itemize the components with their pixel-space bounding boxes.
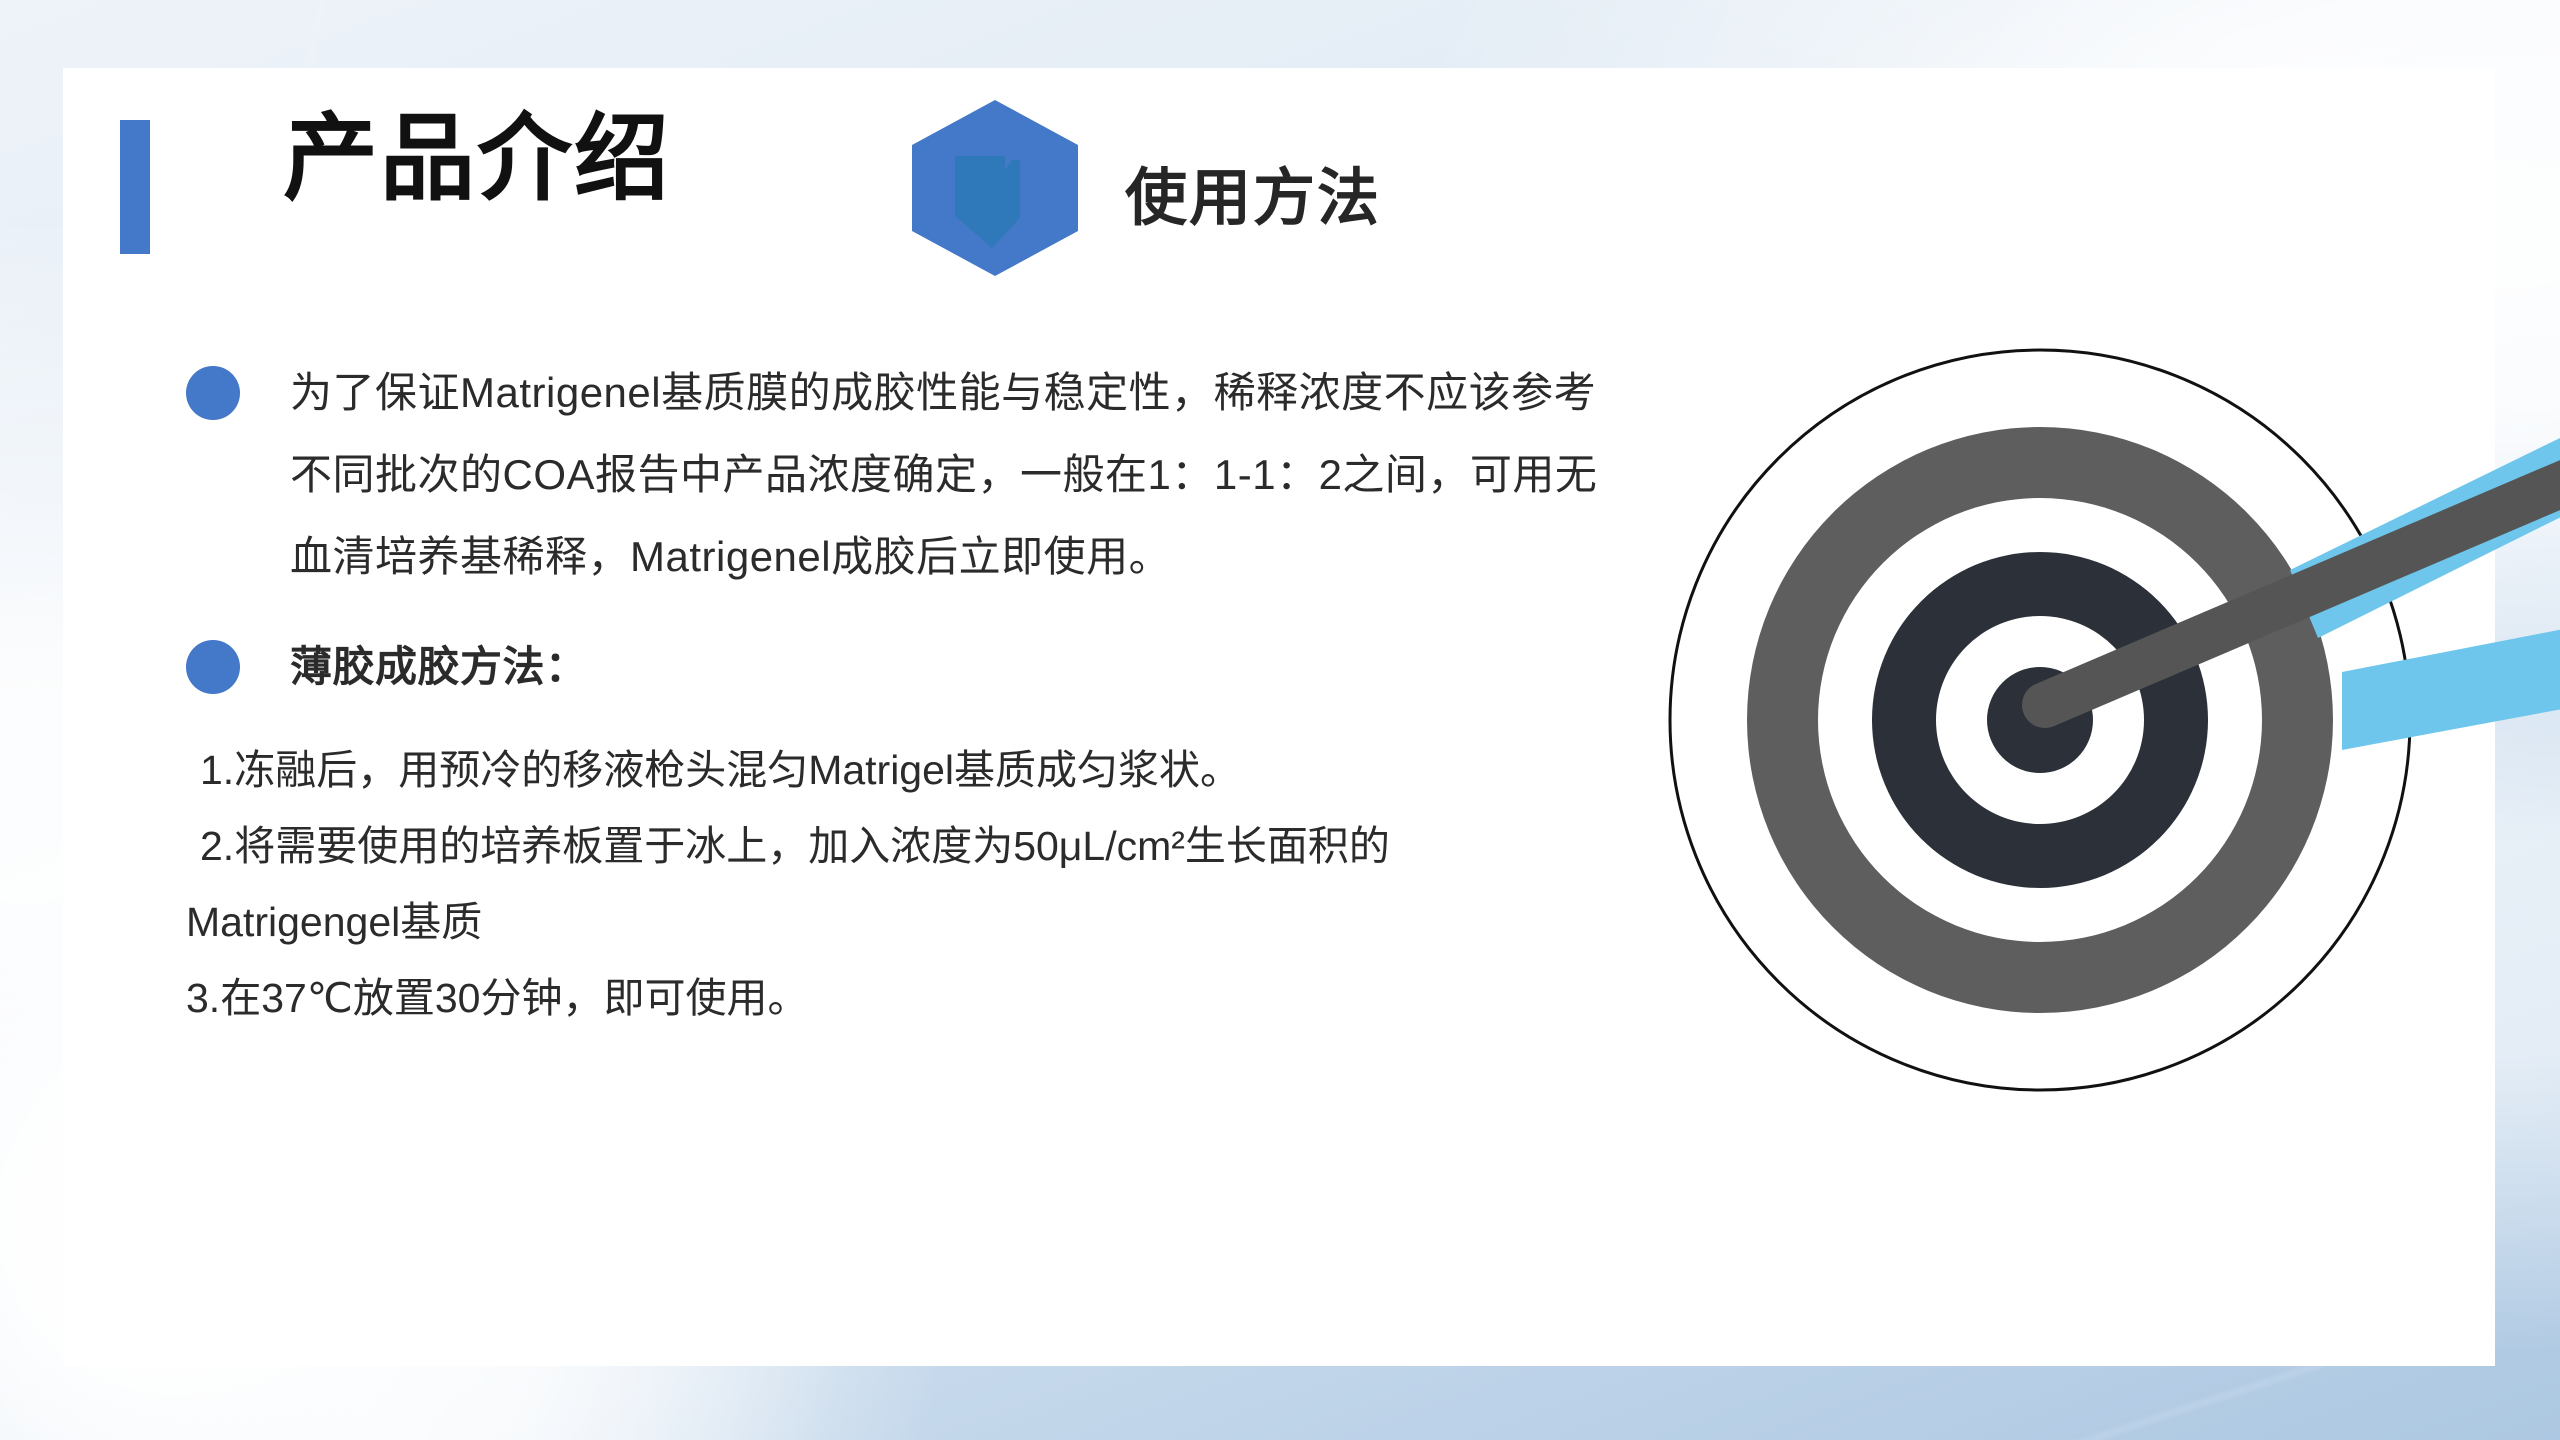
step-item-continuation: Matrigengel基质 bbox=[186, 884, 1656, 960]
step-item: 1.冻融后，用预冷的移液枪头混匀Matrigel基质成匀浆状。 bbox=[186, 732, 1656, 808]
title-accent-bar bbox=[120, 120, 150, 254]
slide: 产品介绍 使用方法 为了保证Matrigenel基质膜的成胶性能与稳定性，稀释浓… bbox=[0, 0, 2560, 1440]
step-item: 2.将需要使用的培养板置于冰上，加入浓度为50μL/cm²生长面积的 bbox=[186, 808, 1656, 884]
bullet-item: 薄胶成胶方法： bbox=[186, 626, 1616, 708]
body-content: 为了保证Matrigenel基质膜的成胶性能与稳定性，稀释浓度不应该参考不同批次… bbox=[186, 352, 1616, 1036]
bullet-paragraph: 为了保证Matrigenel基质膜的成胶性能与稳定性，稀释浓度不应该参考不同批次… bbox=[290, 352, 1616, 598]
section-title: 使用方法 bbox=[1125, 168, 1381, 230]
bullet-item: 为了保证Matrigenel基质膜的成胶性能与稳定性，稀释浓度不应该参考不同批次… bbox=[186, 352, 1616, 598]
hexagon-logo-icon bbox=[900, 98, 1090, 278]
bullet-dot-icon bbox=[186, 640, 240, 694]
page-title: 产品介绍 bbox=[283, 112, 671, 207]
step-item: 3.在37℃放置30分钟，即可使用。 bbox=[186, 960, 1656, 1036]
steps-list: 1.冻融后，用预冷的移液枪头混匀Matrigel基质成匀浆状。 2.将需要使用的… bbox=[186, 732, 1656, 1036]
bullet-heading: 薄胶成胶方法： bbox=[290, 626, 1616, 708]
bullet-dot-icon bbox=[186, 366, 240, 420]
